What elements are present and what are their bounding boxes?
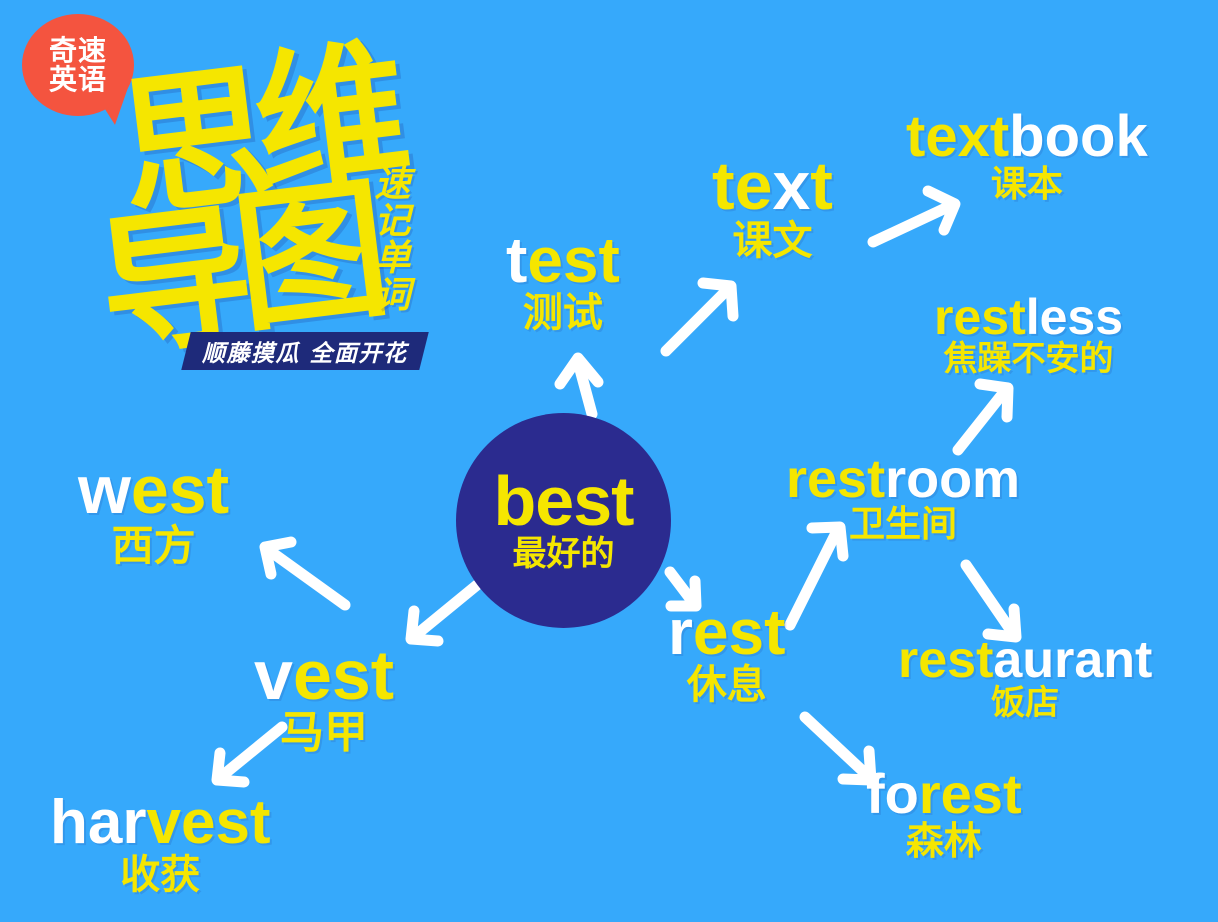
node-restless-word: restless [934,292,1123,342]
node-restaurant-meaning: 饭店 [898,686,1152,722]
node-test[interactable]: test 测试 [506,228,620,334]
node-text[interactable]: text 课文 [712,152,833,262]
node-textbook-word: textbook [906,108,1148,166]
node-forest[interactable]: forest 森林 [866,766,1022,862]
arrow-restroom-to-restless [958,384,1008,450]
arrow-test-to-text [666,283,733,351]
center-node-word: best [494,468,634,535]
node-forest-meaning: 森林 [866,822,1022,862]
node-restroom[interactable]: restroom 卫生间 [786,452,1020,544]
node-vest-word: vest [254,640,394,710]
node-textbook[interactable]: textbook 课本 [906,108,1148,204]
tagline-ribbon: 顺藤摸瓜 全面开花 [181,332,428,370]
arrow-restroom-to-restaurant [966,565,1016,637]
node-west-word: west [78,456,229,524]
vertical-tagline-char-4: 词 [366,277,420,314]
node-text-meaning: 课文 [712,220,833,262]
node-harvest-word: harvest [50,792,271,854]
vertical-tagline-char-1: 速 [366,166,420,203]
node-restless-meaning: 焦躁不安的 [934,342,1123,378]
vertical-tagline: 速 记 单 词 [366,166,420,314]
node-textbook-meaning: 课本 [906,166,1148,204]
mindmap-poster: .ar{stroke:#ffffff;stroke-width:11;strok… [0,0,1218,922]
node-text-word: text [712,152,833,220]
node-restroom-word: restroom [786,452,1020,506]
vertical-tagline-char-3: 单 [366,240,420,277]
node-test-meaning: 测试 [506,292,620,334]
node-restroom-meaning: 卫生间 [786,506,1020,544]
vertical-tagline-char-2: 记 [366,203,420,240]
node-rest-meaning: 休息 [668,664,785,706]
node-rest-word: rest [668,600,785,664]
node-forest-word: forest [866,766,1022,822]
node-west-meaning: 西方 [78,524,229,568]
node-vest[interactable]: vest 马甲 [254,640,394,756]
node-restless[interactable]: restless 焦躁不安的 [934,292,1123,378]
arrow-vest-to-west [265,542,345,605]
node-restaurant-word: restaurant [898,634,1152,686]
node-rest[interactable]: rest 休息 [668,600,785,706]
node-west[interactable]: west 西方 [78,456,229,568]
brand-badge-line1: 奇速 [49,36,107,65]
arrow-rest-to-forest [805,717,871,780]
node-harvest[interactable]: harvest 收获 [50,792,271,896]
arrow-best-to-vest [411,585,477,641]
poster-title: 思 维 导 图 [108,50,408,350]
node-restaurant[interactable]: restaurant 饭店 [898,634,1152,722]
arrow-best-to-test [560,358,598,414]
node-vest-meaning: 马甲 [254,710,394,756]
node-test-word: test [506,228,620,292]
brand-badge-line2: 英语 [49,65,107,94]
tagline-ribbon-text: 顺藤摸瓜 全面开花 [202,334,408,368]
center-node-best[interactable]: best 最好的 [456,413,671,628]
node-harvest-meaning: 收获 [50,854,271,896]
center-node-meaning: 最好的 [513,536,615,573]
